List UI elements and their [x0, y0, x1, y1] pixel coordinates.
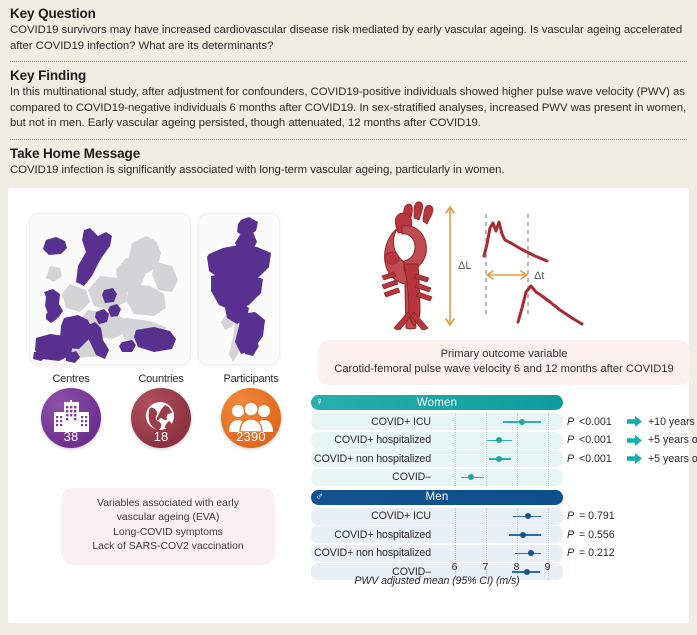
x-axis: 6 7 8 9 PWV adjusted mean (95% CI) (m/s) — [311, 562, 683, 592]
arrow-right-icon — [627, 435, 642, 446]
axis-tick: 8 — [514, 562, 520, 573]
row-plot-area — [439, 526, 563, 543]
eva-annotation: +5 years of EVA — [648, 432, 697, 449]
graphical-abstract-page: Key Question COVID19 survivors may have … — [0, 0, 697, 635]
stat-caption: Centres — [32, 373, 110, 385]
eva-annotation: +10 years of EVA — [648, 413, 697, 430]
summary-text-block: Key Question COVID19 survivors may have … — [0, 0, 697, 179]
p-value: P <0.001 — [567, 432, 612, 449]
divider — [10, 139, 687, 140]
row-plot-area — [439, 450, 563, 467]
group-header-men: ♂ Men — [311, 490, 563, 505]
row-plot-area — [439, 413, 563, 430]
forest-row: COVID– — [311, 469, 563, 486]
axis-tick: 6 — [452, 562, 458, 573]
section-key-finding: Key Finding In this multinational study,… — [10, 68, 687, 132]
section-body: In this multinational study, after adjus… — [10, 85, 687, 132]
variables-box: Variables associated with early vascular… — [61, 488, 275, 565]
section-title: Take Home Message — [10, 146, 687, 161]
section-take-home-message: Take Home Message COVID19 infection is s… — [10, 146, 687, 179]
row-label: COVID+ hospitalized — [311, 526, 435, 543]
section-body: COVID19 survivors may have increased car… — [10, 23, 687, 54]
p-value: P <0.001 — [567, 450, 612, 467]
stat-circle: 38 — [41, 388, 101, 448]
aorta-illustration — [382, 202, 433, 330]
outcome-title: Primary outcome variable — [324, 347, 684, 362]
forest-plot: ♀ Women COVID+ ICU P <0.001 +10 years of… — [311, 395, 683, 582]
arrow-right-icon — [627, 416, 642, 427]
divider — [10, 61, 687, 62]
row-label: COVID+ non hospitalized — [311, 450, 435, 467]
stat-countries: Countries 18 — [122, 373, 200, 448]
p-value: P <0.001 — [567, 413, 612, 430]
outcome-detail: Carotid-femoral pulse wave velocity 6 an… — [324, 362, 684, 377]
p-value: P = 0.556 — [567, 526, 615, 543]
row-label: COVID+ ICU — [311, 413, 435, 430]
stat-value: 2390 — [221, 429, 281, 444]
stat-circle: 2390 — [221, 388, 281, 448]
axis-tick: 7 — [483, 562, 489, 573]
eva-annotation: +5 years of EVA — [648, 450, 697, 467]
row-plot-area — [439, 508, 563, 525]
row-label: COVID+ hospitalized — [311, 432, 435, 449]
variables-line-4: Lack of SARS-COV2 vaccination — [69, 540, 267, 554]
delta-length-label: ΔL — [458, 260, 471, 272]
p-value: P = 0.212 — [567, 545, 615, 562]
row-plot-area — [439, 469, 563, 486]
stat-value: 38 — [41, 429, 101, 444]
row-plot-area — [439, 545, 563, 562]
row-plot-area — [439, 432, 563, 449]
delta-length-arrow — [446, 207, 454, 325]
section-key-question: Key Question COVID19 survivors may have … — [10, 6, 687, 54]
row-label: COVID+ non hospitalized — [311, 545, 435, 562]
axis-tick: 9 — [545, 562, 551, 573]
stat-caption: Participants — [212, 373, 290, 385]
delta-time-label: Δt — [534, 270, 544, 282]
stat-centres: Centres — [32, 373, 110, 448]
primary-outcome-box: Primary outcome variable Carotid-femoral… — [318, 340, 690, 385]
stat-participants: Participants 2390 — [212, 373, 290, 448]
variables-line-3: Long-COVID symptoms — [69, 526, 267, 540]
forest-row: COVID+ ICU P <0.001 +10 years of EVA — [311, 413, 563, 430]
statistics-group: Centres — [32, 373, 290, 448]
europe-map — [30, 214, 190, 364]
forest-row: COVID+ hospitalized P <0.001 +5 years of… — [311, 432, 563, 449]
stat-value: 18 — [131, 429, 191, 444]
axis-label: PWV adjusted mean (95% CI) (m/s) — [311, 575, 563, 587]
forest-row: COVID+ ICU P = 0.791 — [311, 508, 563, 525]
row-label: COVID+ ICU — [311, 508, 435, 525]
pulse-waveform-icon — [484, 214, 582, 324]
forest-row: COVID+ non hospitalized P <0.001 +5 year… — [311, 450, 563, 467]
section-title: Key Finding — [10, 68, 687, 83]
pwv-illustration: ΔL Δt — [358, 200, 618, 330]
arrow-right-icon — [627, 453, 642, 464]
stat-circle: 18 — [131, 388, 191, 448]
group-header-women: ♀ Women — [311, 395, 563, 410]
group-label: Women — [311, 397, 563, 409]
variables-line-1: Variables associated with early — [69, 497, 267, 511]
group-label: Men — [311, 491, 563, 503]
delta-time-arrow — [487, 271, 527, 279]
forest-row: COVID+ non hospitalized P = 0.212 — [311, 545, 563, 562]
variables-line-2: vascular ageing (EVA) — [69, 511, 267, 525]
americas-map — [199, 214, 279, 364]
stat-caption: Countries — [122, 373, 200, 385]
row-label: COVID– — [311, 469, 435, 486]
maps-group — [30, 214, 290, 364]
figure-panel: Centres — [8, 188, 689, 623]
forest-row: COVID+ hospitalized P = 0.556 — [311, 526, 563, 543]
p-value: P = 0.791 — [567, 508, 615, 525]
section-title: Key Question — [10, 6, 687, 21]
section-body: COVID19 infection is significantly assoc… — [10, 163, 687, 179]
